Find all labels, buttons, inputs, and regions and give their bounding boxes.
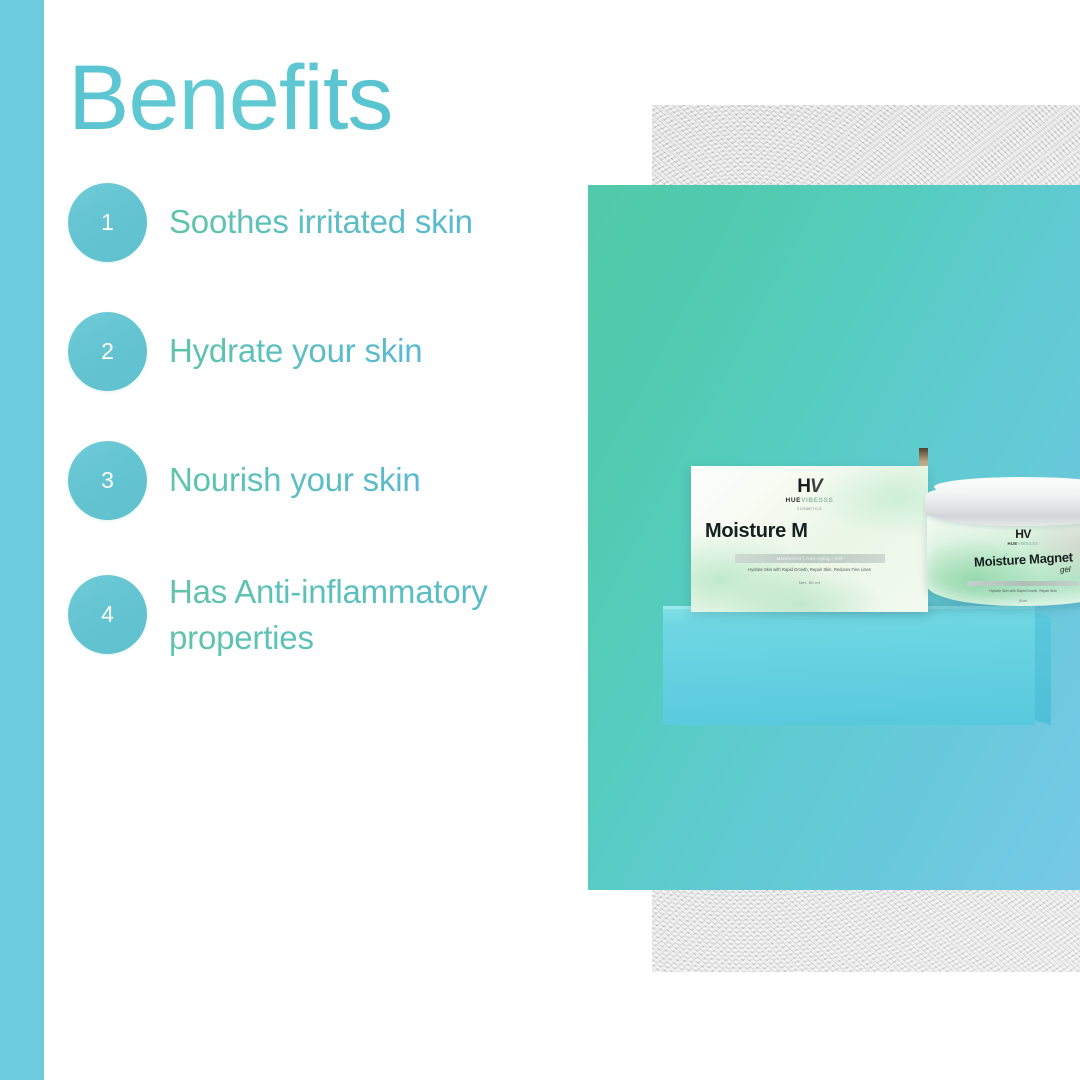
list-item: 3 Nourish your skin xyxy=(68,440,588,520)
carton-volume: Net. 50 ml xyxy=(799,580,820,585)
benefit-number-badge: 1 xyxy=(68,183,147,262)
jar-volume: 50 ml xyxy=(1019,599,1027,603)
benefit-number-badge: 3 xyxy=(68,441,147,520)
jar-body: HV HUEVIBESSS Moisture Magnet gel Hydrat… xyxy=(927,512,1080,606)
jar-feature-strip xyxy=(967,581,1079,586)
benefit-label: Soothes irritated skin xyxy=(169,199,473,245)
benefits-list: 1 Soothes irritated skin 2 Hydrate your … xyxy=(68,182,588,660)
benefit-label: Hydrate your skin xyxy=(169,328,422,374)
page-title: Benefits xyxy=(68,52,392,144)
jar-brand-second: VIBESSS xyxy=(1018,541,1039,546)
carton-brand-name: HUEVIBESSS xyxy=(786,498,834,505)
product-photo-panel: HV HUEVIBESSS COSMETICS Moisture M Moist… xyxy=(588,185,1080,890)
carton-product-name: Moisture M xyxy=(705,521,808,541)
carton-logo-v: V xyxy=(810,476,822,497)
jar-claims-text: Hydrate Skin with Rapid Growth, Repair S… xyxy=(964,589,1080,594)
jar-logo-icon: HV xyxy=(1015,528,1030,540)
carton-claims-text: Hydrate Skin with Rapid Growth, Repair S… xyxy=(735,567,885,573)
jar-lid-top xyxy=(934,477,1080,497)
list-item: 2 Hydrate your skin xyxy=(68,311,588,391)
carton-brand-first: HUE xyxy=(786,497,802,504)
carton-brand-sub: COSMETICS xyxy=(797,507,822,511)
jar-brand-name: HUEVIBESSS xyxy=(1008,541,1039,546)
jar-brand-first: HUE xyxy=(1008,541,1018,546)
carton-feature-strip: Moisturizer | Anti-Aging | Gel xyxy=(735,554,885,563)
product-pedestal xyxy=(663,609,1035,725)
benefit-label: Has Anti-inflammatory properties xyxy=(169,569,588,660)
benefits-content: Benefits 1 Soothes irritated skin 2 Hydr… xyxy=(68,0,588,1080)
jar-product-name: Moisture Magnet xyxy=(973,550,1072,568)
jar-variant-name: gel xyxy=(1060,565,1071,575)
left-accent-bar xyxy=(0,0,44,1080)
product-carton: HV HUEVIBESSS COSMETICS Moisture M Moist… xyxy=(691,466,928,612)
benefit-number-badge: 4 xyxy=(68,575,147,654)
carton-brand-second: VIBESSS xyxy=(801,497,833,504)
jar-lid xyxy=(925,482,1080,526)
list-item: 1 Soothes irritated skin xyxy=(68,182,588,262)
benefit-number-badge: 2 xyxy=(68,312,147,391)
pedestal-side-face xyxy=(1035,613,1051,725)
product-jar: HV HUEVIBESSS Moisture Magnet gel Hydrat… xyxy=(925,482,1080,613)
jar-label: HV HUEVIBESSS Moisture Magnet gel Hydrat… xyxy=(927,528,1080,603)
carton-logo-h: H xyxy=(797,476,810,497)
carton-logo-icon: HV xyxy=(797,477,821,496)
jar-logo-v: V xyxy=(1023,527,1030,541)
benefit-label: Nourish your skin xyxy=(169,457,421,503)
list-item: 4 Has Anti-inflammatory properties xyxy=(68,569,588,660)
